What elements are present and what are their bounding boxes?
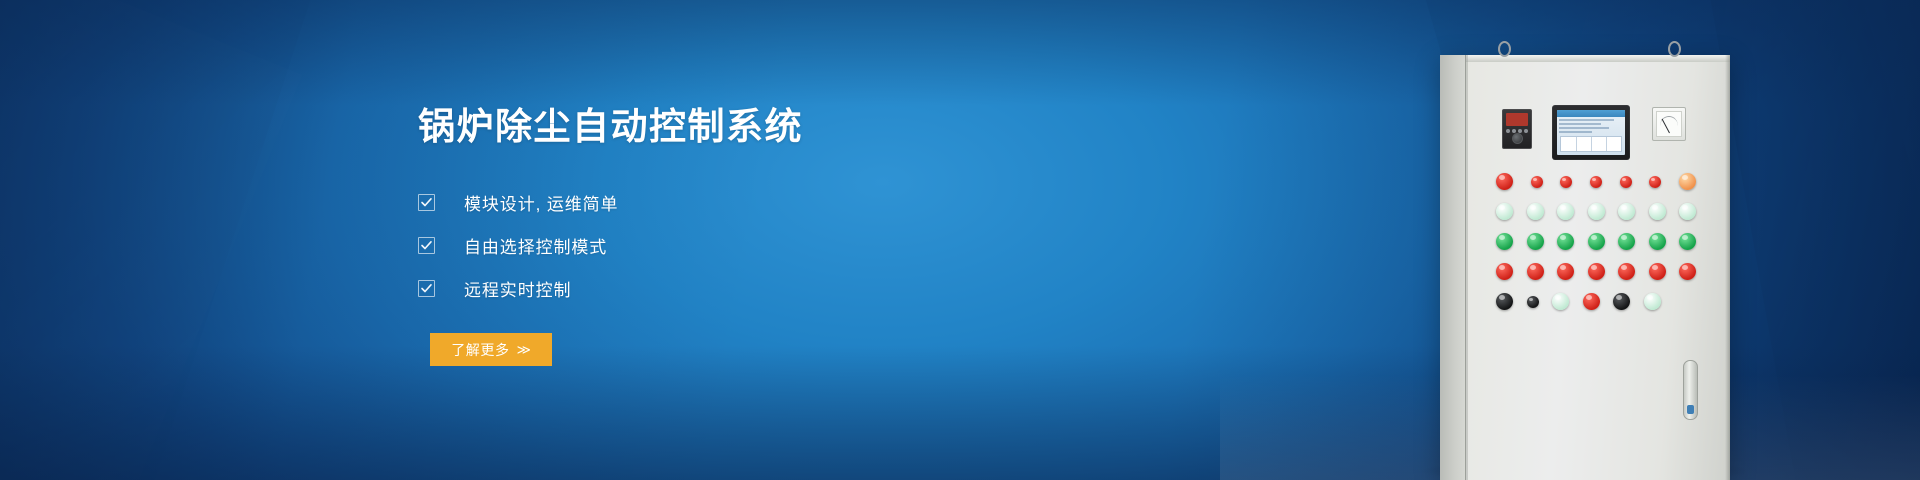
cabinet-left-side-panel xyxy=(1440,55,1466,480)
indicator-lamp xyxy=(1618,233,1635,250)
hero-banner: 锅炉除尘自动控制系统 模块设计, 运维简单 自由选择控制模式 xyxy=(0,0,1920,480)
learn-more-label: 了解更多 xyxy=(451,340,509,360)
indicator-lamp xyxy=(1527,296,1539,308)
feature-label: 自由选择控制模式 xyxy=(464,233,607,258)
indicator-lamp xyxy=(1552,293,1569,310)
ring-icon xyxy=(1498,41,1511,57)
indicator-lamp xyxy=(1620,176,1632,188)
page-title: 锅炉除尘自动控制系统 xyxy=(418,104,938,150)
indicator-lamp xyxy=(1496,203,1513,220)
hmi-text-rows xyxy=(1557,117,1625,133)
lamp-row xyxy=(1496,203,1696,220)
hmi-title-bar xyxy=(1557,110,1625,117)
hmi-data-grid xyxy=(1560,136,1622,152)
lamp-row xyxy=(1496,263,1696,280)
lamp-row xyxy=(1496,233,1696,250)
controller-display xyxy=(1506,113,1528,126)
indicator-lamp xyxy=(1560,176,1572,188)
indicator-lamp xyxy=(1618,263,1635,280)
indicator-lamp xyxy=(1588,203,1605,220)
feature-label: 远程实时控制 xyxy=(464,276,571,301)
indicator-lamp xyxy=(1588,233,1605,250)
indicator-lamp xyxy=(1531,176,1543,188)
indicator-lamp xyxy=(1679,203,1696,220)
indicator-lamp xyxy=(1679,173,1696,190)
feature-item-1: 模块设计, 运维简单 xyxy=(418,186,938,219)
screen-icon xyxy=(1552,105,1630,160)
ring-icon xyxy=(1668,41,1681,57)
indicator-lamp xyxy=(1557,203,1574,220)
gauge-face xyxy=(1656,111,1682,137)
feature-label: 模块设计, 运维简单 xyxy=(464,190,618,215)
controller-knob xyxy=(1512,133,1523,144)
indicator-lamp xyxy=(1613,293,1630,310)
indicator-lamp xyxy=(1496,173,1513,190)
indicator-lamp xyxy=(1588,263,1605,280)
indicator-lamp xyxy=(1590,176,1602,188)
indicator-lamp xyxy=(1649,263,1666,280)
indicator-lamp xyxy=(1649,203,1666,220)
gauge-icon xyxy=(1652,107,1686,141)
indicator-lamp xyxy=(1644,293,1661,310)
indicator-lamp xyxy=(1649,233,1666,250)
indicator-lamp xyxy=(1496,293,1513,310)
check-square-icon xyxy=(418,194,435,211)
cabinet-door-seam xyxy=(1466,55,1468,480)
indicator-lamp xyxy=(1496,263,1513,280)
hmi-display xyxy=(1557,110,1625,155)
indicator-lamp xyxy=(1679,263,1696,280)
cabinet-lock xyxy=(1687,405,1694,414)
banner-copy-block: 锅炉除尘自动控制系统 模块设计, 运维简单 自由选择控制模式 xyxy=(418,104,938,366)
feature-list: 模块设计, 运维简单 自由选择控制模式 远程实时控制 xyxy=(418,186,938,305)
learn-more-button[interactable]: 了解更多 ≫ xyxy=(430,333,552,366)
control-cabinet xyxy=(1440,55,1730,480)
indicator-lamp xyxy=(1679,233,1696,250)
indicator-lamp xyxy=(1527,203,1544,220)
product-photo xyxy=(1220,0,1920,480)
indicator-lamp xyxy=(1583,293,1600,310)
indicator-lamp xyxy=(1527,263,1544,280)
cabinet-top-edge xyxy=(1440,55,1730,62)
feature-item-2: 自由选择控制模式 xyxy=(418,229,938,262)
cabinet-right-edge xyxy=(1725,55,1730,480)
indicator-lamp-grid xyxy=(1496,173,1696,323)
indicator-lamp xyxy=(1557,233,1574,250)
lamp-row xyxy=(1496,293,1661,310)
indicator-lamp xyxy=(1527,233,1544,250)
indicator-lamp xyxy=(1649,176,1661,188)
feature-item-3: 远程实时控制 xyxy=(418,272,938,305)
check-square-icon xyxy=(418,280,435,297)
indicator-lamp xyxy=(1496,233,1513,250)
indicator-lamp xyxy=(1557,263,1574,280)
chevron-right-double-icon: ≫ xyxy=(516,342,531,358)
handle-icon[interactable] xyxy=(1683,360,1698,420)
lamp-row xyxy=(1496,173,1696,190)
controller-icon xyxy=(1502,109,1532,149)
check-square-icon xyxy=(418,237,435,254)
indicator-lamp xyxy=(1618,203,1635,220)
